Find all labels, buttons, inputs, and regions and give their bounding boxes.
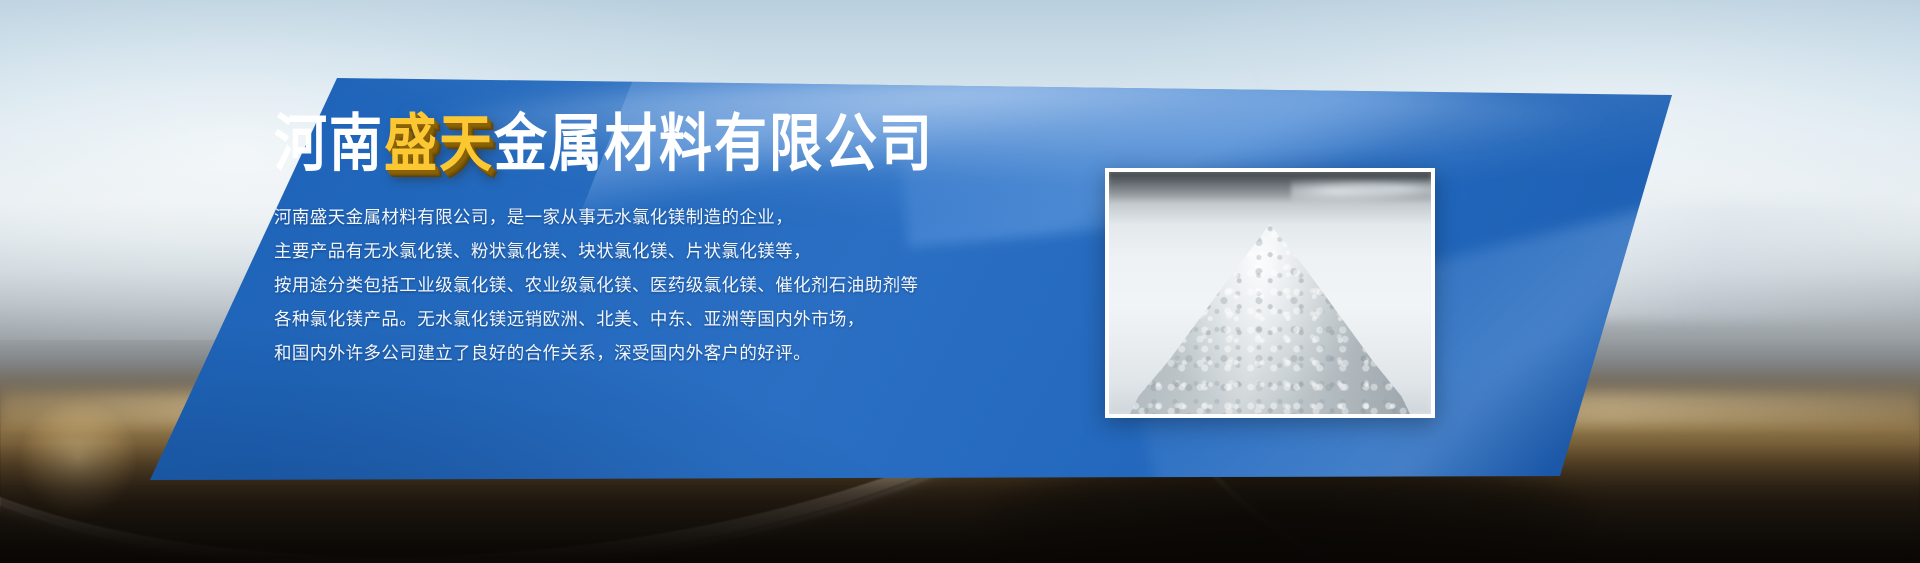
photo-background-lumps <box>1291 176 1431 202</box>
company-title: 河南盛天金属材料有限公司 <box>274 112 914 178</box>
banner-content: 河南盛天金属材料有限公司 河南盛天金属材料有限公司，是一家从事无水氯化镁制造的企… <box>274 112 914 375</box>
company-banner: 河南盛天金属材料有限公司 河南盛天金属材料有限公司，是一家从事无水氯化镁制造的企… <box>0 0 1920 563</box>
company-title-prefix: 河南 <box>274 108 384 180</box>
description-line: 和国内外许多公司建立了良好的合作关系，深受国内外客户的好评。 <box>274 342 914 367</box>
description-line: 各种氯化镁产品。无水氯化镁远销欧洲、北美、中东、亚洲等国内外市场， <box>274 308 914 333</box>
company-title-suffix: 金属材料有限公司 <box>494 108 934 180</box>
company-description: 河南盛天金属材料有限公司，是一家从事无水氯化镁制造的企业， 主要产品有无水氯化镁… <box>274 206 914 366</box>
product-photo-inner <box>1109 172 1431 414</box>
description-line: 按用途分类包括工业级氯化镁、农业级氯化镁、医药级氯化镁、催化剂石油助剂等 <box>274 274 914 299</box>
description-line: 主要产品有无水氯化镁、粉状氯化镁、块状氯化镁、片状氯化镁等， <box>274 240 914 265</box>
company-title-highlight: 盛天 <box>384 108 494 180</box>
description-line: 河南盛天金属材料有限公司，是一家从事无水氯化镁制造的企业， <box>274 206 914 231</box>
product-photo <box>1105 168 1435 418</box>
